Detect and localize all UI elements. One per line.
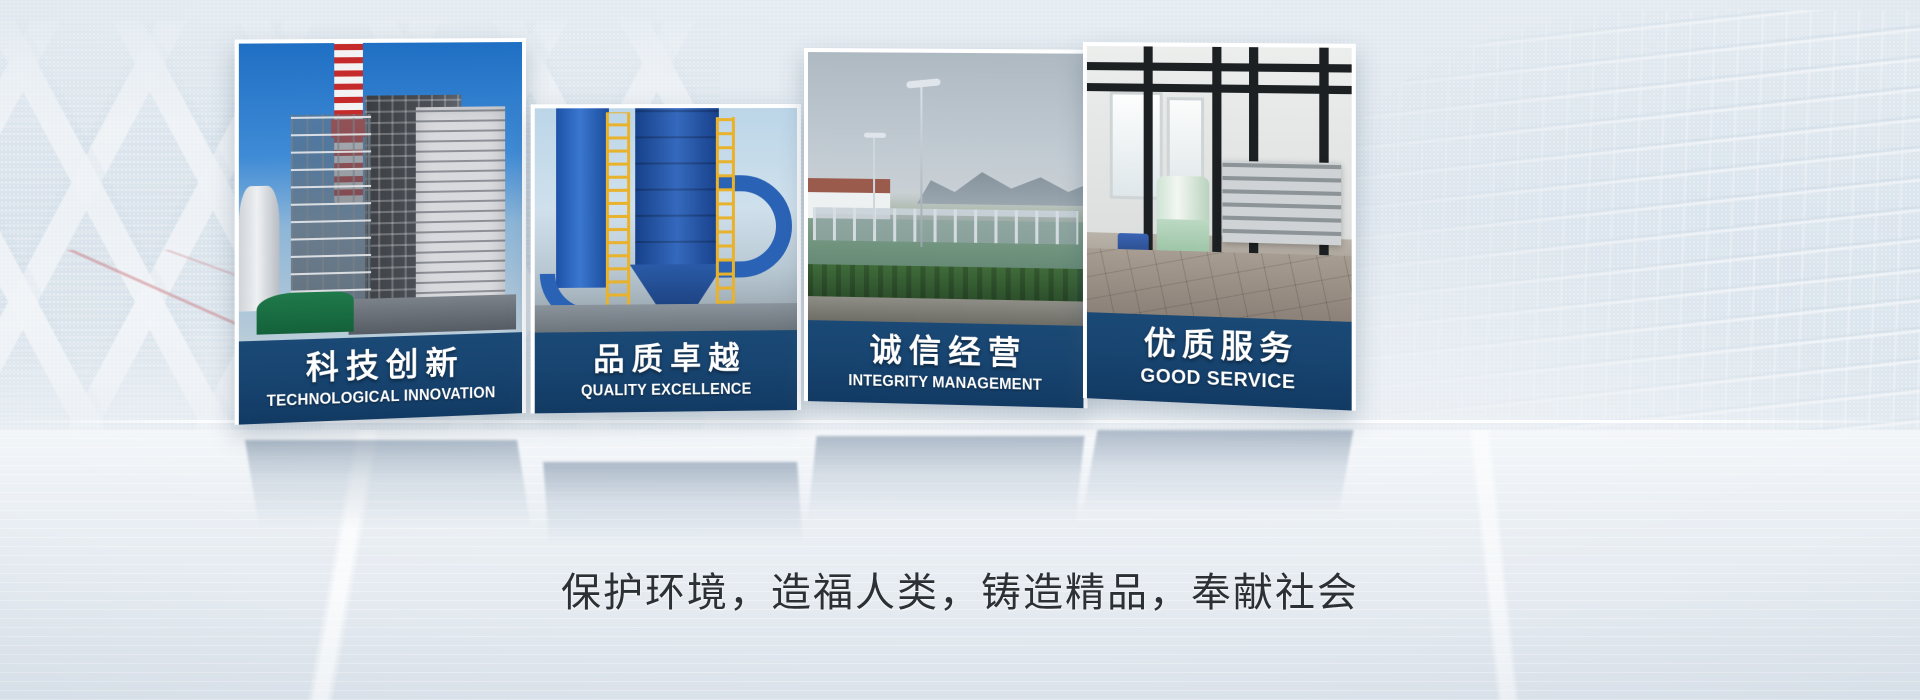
panel-technological-innovation[interactable]: 科技创新 TECHNOLOGICAL INNOVATION xyxy=(235,38,526,425)
panel-caption: 优质服务 GOOD SERVICE xyxy=(1087,312,1352,410)
yellow-ladder-shape xyxy=(716,117,734,304)
panel-caption: 品质卓越 QUALITY EXCELLENCE xyxy=(535,330,797,413)
green-equipment-shape xyxy=(256,291,354,335)
panel-photo-wastewater-plant xyxy=(808,52,1083,326)
panel-photo-blue-scrubber-tower xyxy=(535,108,797,333)
banner-stage: 科技创新 TECHNOLOGICAL INNOVATION 品质卓越 xyxy=(0,0,1920,700)
panel-title-cn: 品质卓越 xyxy=(541,340,791,379)
dosing-tank-shape xyxy=(1157,175,1210,252)
light-tower-shape xyxy=(416,106,505,312)
panel-photo-ro-membrane-room xyxy=(1087,46,1352,322)
panel-title-en: QUALITY EXCELLENCE xyxy=(548,379,783,401)
panel-caption: 科技创新 TECHNOLOGICAL INNOVATION xyxy=(239,332,522,425)
blue-column-shape xyxy=(556,108,609,288)
ground-shape xyxy=(535,303,797,332)
panel-good-service[interactable]: 优质服务 GOOD SERVICE xyxy=(1083,42,1356,410)
vertical-pipe-shape xyxy=(1212,47,1221,258)
panel-photo-power-plant-stack xyxy=(239,42,522,341)
silo-shape xyxy=(239,186,280,312)
tiled-floor-shape xyxy=(1087,248,1352,322)
mountain-range-shape xyxy=(917,161,1083,207)
scaffolding-shape xyxy=(291,113,371,310)
ro-membrane-rack-shape xyxy=(1223,160,1341,244)
low-building-shape xyxy=(348,295,516,335)
vertical-pipe-shape xyxy=(1144,46,1153,255)
panel-title-en: INTEGRITY MANAGEMENT xyxy=(822,370,1070,396)
filter-housing-shape xyxy=(635,108,719,269)
banner-tagline: 保护环境，造福人类，铸造精品，奉献社会 xyxy=(0,560,1920,618)
street-lamp-shape xyxy=(920,80,922,247)
street-lamp-shape xyxy=(873,133,875,230)
panel-quality-excellence[interactable]: 品质卓越 QUALITY EXCELLENCE xyxy=(531,104,801,413)
panel-caption: 诚信经营 INTEGRITY MANAGEMENT xyxy=(808,320,1083,408)
panel-integrity-management[interactable]: 诚信经营 INTEGRITY MANAGEMENT xyxy=(804,48,1088,408)
yellow-ladder-shape xyxy=(606,113,630,310)
panel-title-cn: 诚信经营 xyxy=(814,330,1077,374)
walkway-railing-shape xyxy=(813,208,1077,245)
